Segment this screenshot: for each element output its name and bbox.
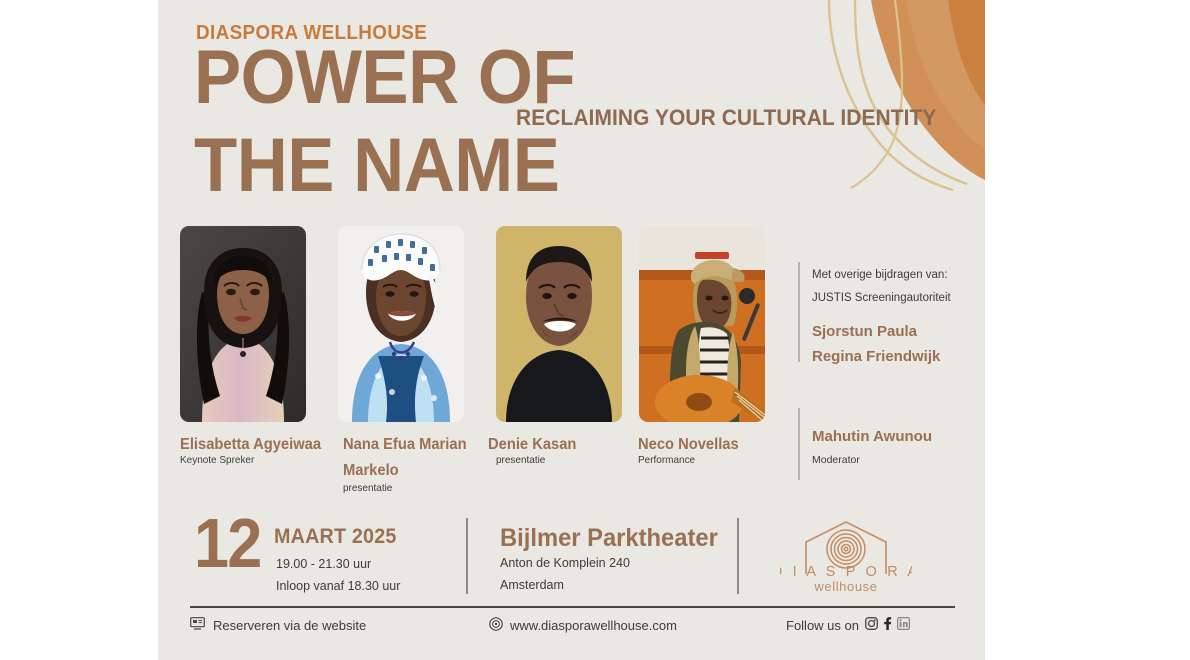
moderator-divider — [798, 408, 800, 480]
speaker-role-1: Keynote Spreker — [180, 454, 254, 467]
event-month-year: MAART 2025 — [274, 525, 397, 549]
logo-wordmark: D I A S P O R A — [780, 564, 912, 580]
contributors-intro-line-2: JUSTIS Screeningautoriteit — [812, 290, 951, 307]
facebook-icon[interactable] — [883, 617, 892, 635]
monitor-icon — [190, 617, 205, 635]
moderator-name: Mahutin Awunou — [812, 426, 932, 448]
speaker-role-2: presentatie — [343, 482, 392, 495]
venue-city: Amsterdam — [500, 577, 564, 594]
speaker-photo-elisabetta — [180, 226, 306, 422]
event-time: 19.00 - 21.30 uur — [276, 556, 371, 573]
venue-divider-right — [737, 518, 739, 594]
venue-name: Bijlmer Parktheater — [500, 524, 718, 553]
speaker-photo-denie-kasan — [496, 226, 622, 422]
contributors-intro-line-1: Met overige bijdragen van: — [812, 267, 948, 284]
reserve-link[interactable]: Reserveren via de website — [213, 618, 366, 634]
page-title-line-2: THE NAME — [194, 128, 559, 204]
contributor-name-1: Sjorstun Paula — [812, 321, 917, 343]
contributors-divider — [798, 262, 800, 362]
website-link[interactable]: www.diasporawellhouse.com — [510, 618, 677, 634]
contributor-name-2: Regina Friendwijk — [812, 346, 940, 368]
speaker-photo-nana-efua — [338, 226, 464, 422]
event-poster: DIASPORA WELLHOUSE POWER OF THE NAME REC… — [158, 0, 985, 660]
speaker-photo-neco-novellas — [639, 226, 765, 422]
page-subtitle: RECLAIMING YOUR CULTURAL IDENTITY — [516, 105, 936, 131]
house-spiral-icon: D I A S P O R A wellhouse — [780, 516, 912, 596]
event-doors: Inloop vanaf 18.30 uur — [276, 578, 400, 595]
logo-subword: wellhouse — [813, 579, 877, 594]
poster-canvas: DIASPORA WELLHOUSE POWER OF THE NAME REC… — [0, 0, 1190, 660]
follow-label: Follow us on — [786, 618, 859, 634]
linkedin-icon[interactable] — [897, 617, 910, 635]
instagram-icon[interactable] — [865, 617, 878, 635]
venue-street: Anton de Komplein 240 — [500, 555, 630, 572]
footer-divider — [190, 606, 955, 608]
corner-swoosh-decoration — [785, 0, 985, 200]
moderator-role: Moderator — [812, 452, 860, 469]
event-day: 12 — [194, 508, 260, 578]
diaspora-wellhouse-logo: D I A S P O R A wellhouse — [780, 516, 912, 596]
venue-divider-left — [466, 518, 468, 594]
speaker-role-3: presentatie — [496, 454, 545, 467]
speaker-name-2: Nana Efua Marian Markelo — [343, 432, 471, 484]
swoosh-svg — [785, 0, 985, 200]
globe-icon — [489, 617, 503, 636]
speaker-role-4: Performance — [638, 454, 695, 467]
